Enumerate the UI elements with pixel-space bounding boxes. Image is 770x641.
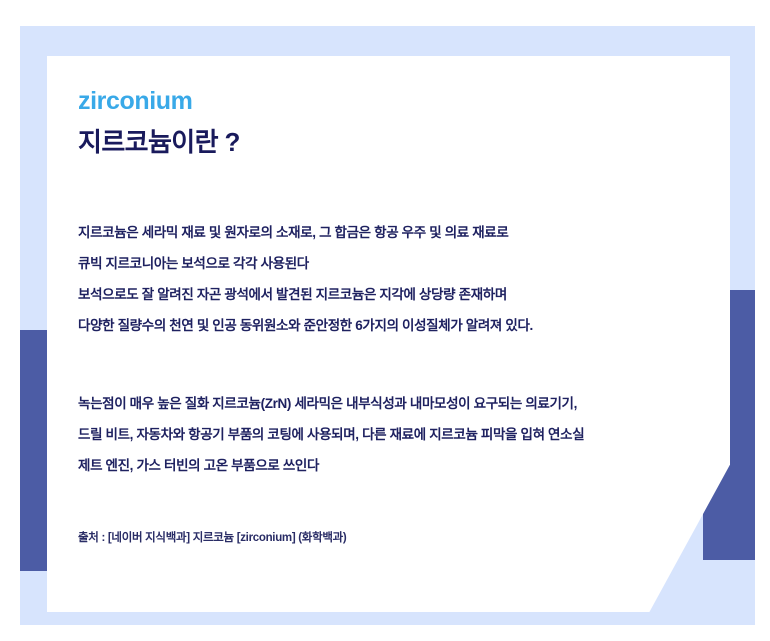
paragraph-line: 지르코늄은 세라믹 재료 및 원자로의 소재로, 그 합금은 항공 우주 및 의…: [78, 217, 678, 248]
paragraph-line: 제트 엔진, 가스 터빈의 고온 부품으로 쓰인다: [78, 450, 678, 481]
accent-bar-left: [20, 330, 47, 571]
paragraph-block-two: 녹는점이 매우 높은 질화 지르코늄(ZrN) 세라믹은 내부식성과 내마모성이…: [78, 341, 678, 481]
paragraph-line: 큐빅 지르코니아는 보석으로 각각 사용된다: [78, 248, 678, 279]
brand-label: zirconium: [78, 56, 678, 116]
paragraph-line: 보석으로도 잘 알려진 자곤 광석에서 발견된 지르코늄은 지각에 상당량 존재…: [78, 279, 678, 310]
corner-notch-bottom-left: [0, 612, 20, 641]
source-citation: 출처 : [네이버 지식백과] 지르코늄 [zirconium] (화학백과): [78, 481, 678, 546]
card-content: zirconium 지르코늄이란 ? 지르코늄은 세라믹 재료 및 원자로의 소…: [78, 56, 678, 546]
page-title: 지르코늄이란 ?: [78, 116, 678, 159]
paragraph-block-one: 지르코늄은 세라믹 재료 및 원자로의 소재로, 그 합금은 항공 우주 및 의…: [78, 158, 678, 341]
paragraph-line: 다양한 질량수의 천연 및 인공 동위원소와 준안정한 6가지의 이성질체가 알…: [78, 310, 678, 341]
paragraph-line: 녹는점이 매우 높은 질화 지르코늄(ZrN) 세라믹은 내부식성과 내마모성이…: [78, 388, 678, 419]
paragraph-line: 드릴 비트, 자동차와 항공기 부품의 코팅에 사용되며, 다른 재료에 지르코…: [78, 419, 678, 450]
slide-stage: zirconium 지르코늄이란 ? 지르코늄은 세라믹 재료 및 원자로의 소…: [0, 0, 770, 641]
